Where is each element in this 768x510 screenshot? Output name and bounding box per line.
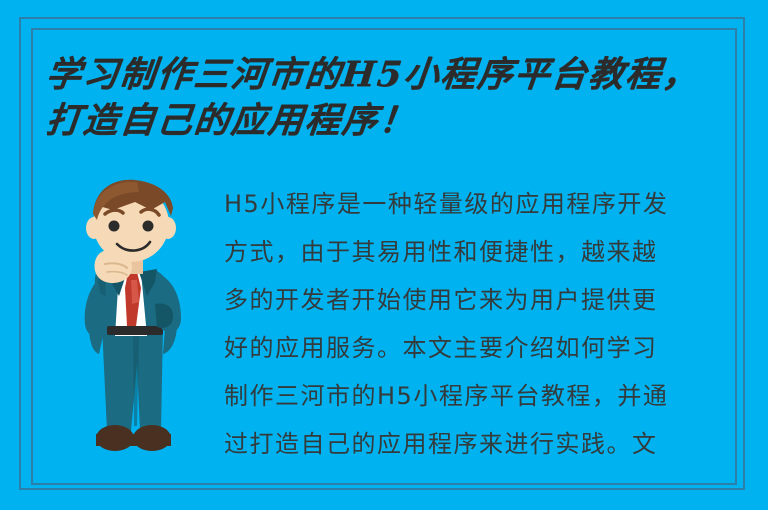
poster-canvas: 学习制作三河市的H5小程序平台教程， 打造自己的应用程序！ [0,0,768,510]
body-line: 好的应用服务。本文主要介绍如何学习 [224,324,694,372]
body-line: 过打造自己的应用程序来进行实践。文 [224,420,694,468]
body-line: 制作三河市的H5小程序平台教程，并通 [224,372,694,420]
body-line: 方式，由于其易用性和便捷性，越来越 [224,228,694,276]
poster-body-text: H5小程序是一种轻量级的应用程序开发 方式，由于其易用性和便捷性，越来越 多的开… [224,180,694,468]
body-line: 多的开发者开始使用它来为用户提供更 [224,276,694,324]
poster-title: 学习制作三河市的H5小程序平台教程， 打造自己的应用程序！ [46,52,726,144]
body-line: H5小程序是一种轻量级的应用程序开发 [224,180,694,228]
title-line-1: 学习制作三河市的H5小程序平台教程， [44,52,729,98]
thinking-businessman-illustration [55,176,220,476]
title-line-2: 打造自己的应用程序！ [44,98,729,144]
